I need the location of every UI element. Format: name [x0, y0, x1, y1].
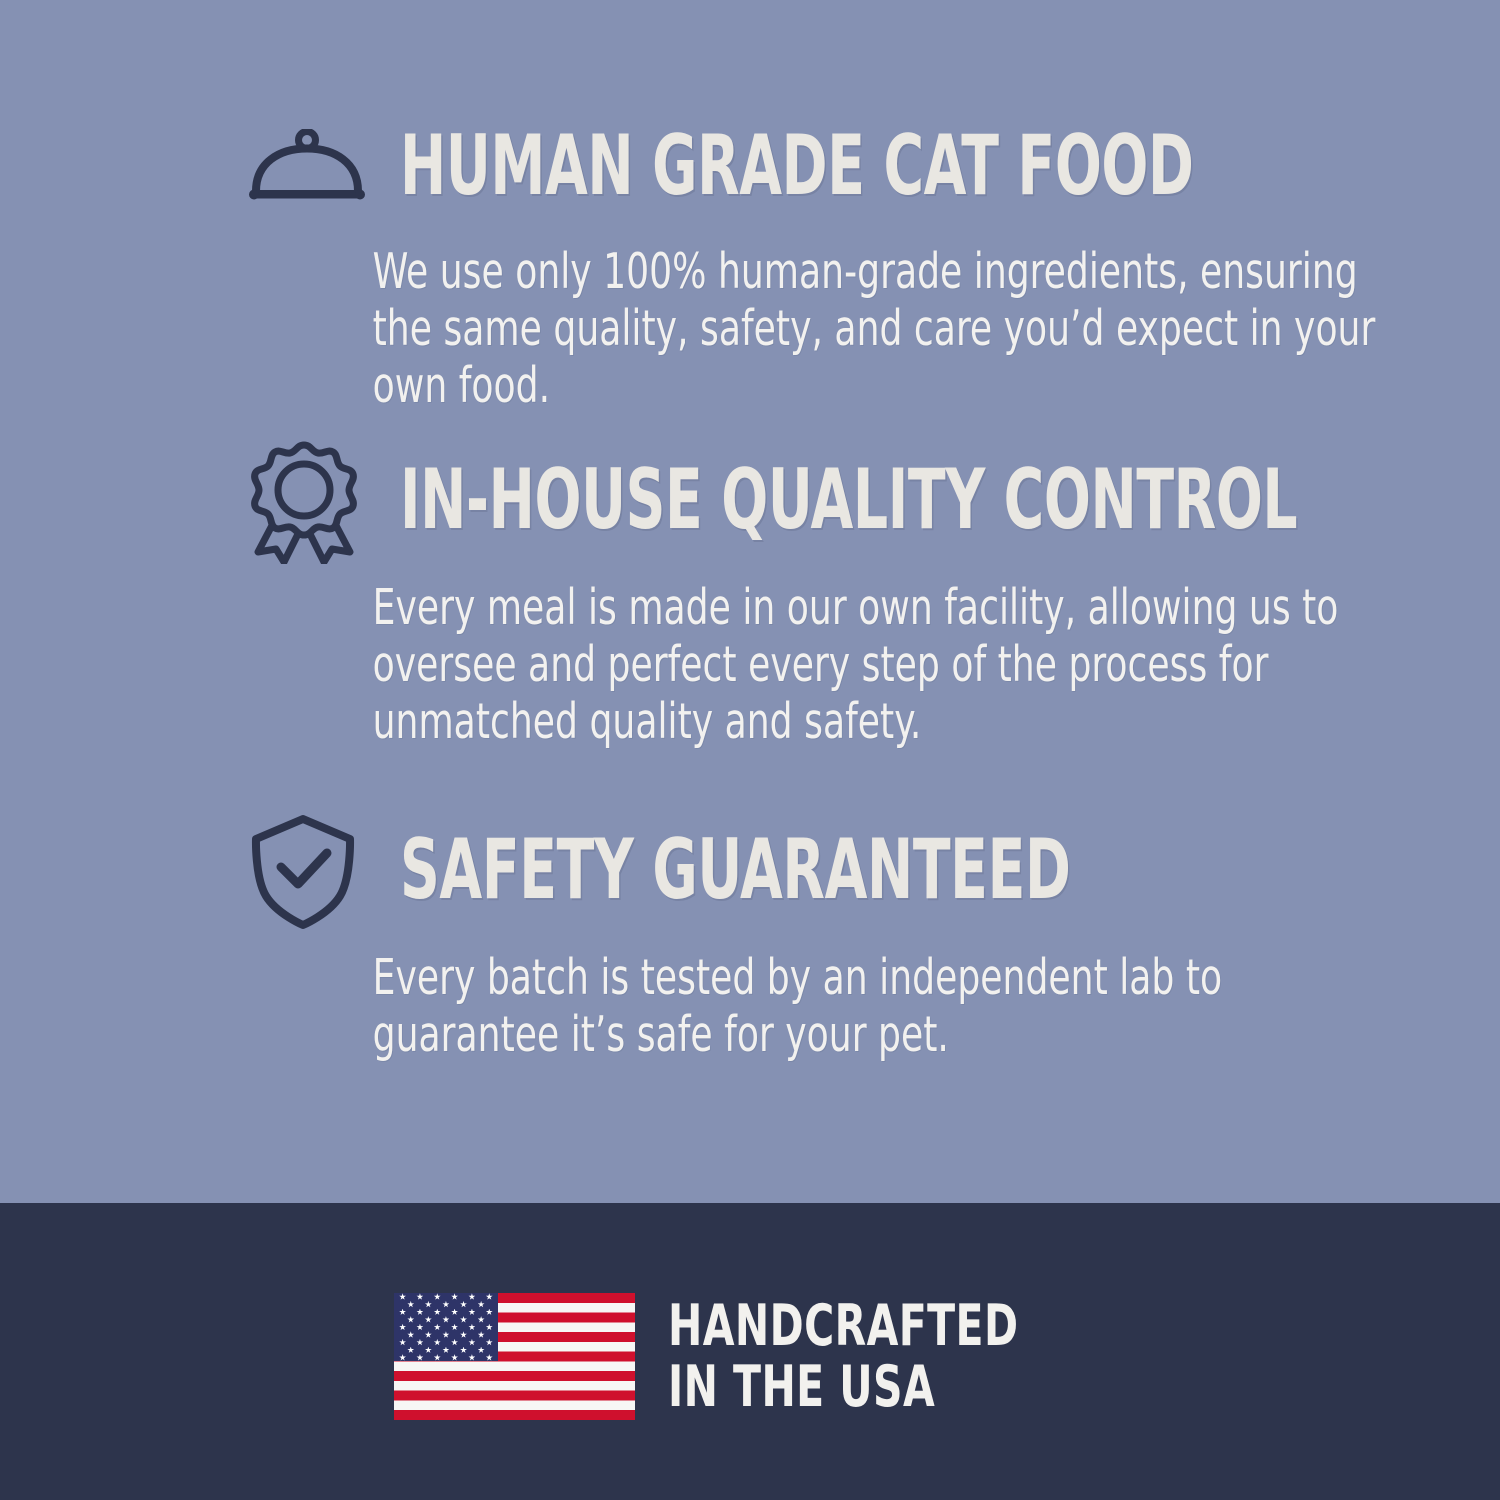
flag-star [478, 1331, 485, 1338]
flag-star [451, 1309, 458, 1316]
flag-star-row [394, 1324, 498, 1331]
banner-text: HANDCRAFTED IN THE USA [668, 1296, 1018, 1418]
flag-star [442, 1347, 449, 1354]
flag-star-row [394, 1316, 498, 1323]
flag-canton [394, 1293, 498, 1361]
feature-description: We use only 100% human-grade ingredients… [248, 243, 1389, 414]
feature-item-human-grade-cat-food: HUMAN GRADE CAT FOOD We use only 100% hu… [248, 118, 1258, 414]
flag-star [486, 1324, 493, 1331]
feature-title: SAFETY GUARANTEED [400, 822, 1070, 918]
flag-star [451, 1324, 458, 1331]
flag-star [478, 1347, 485, 1354]
flag-star [468, 1309, 475, 1316]
flag-star [468, 1293, 475, 1300]
flag-star [468, 1339, 475, 1346]
flag-star [399, 1354, 406, 1361]
cloche-icon [248, 118, 366, 218]
made-in-usa-banner: HANDCRAFTED IN THE USA [0, 1203, 1500, 1500]
flag-star [425, 1316, 432, 1323]
flag-star [460, 1347, 467, 1354]
flag-star [460, 1316, 467, 1323]
usa-flag-icon [394, 1293, 635, 1420]
flag-star-row [394, 1309, 498, 1316]
flag-star [486, 1293, 493, 1300]
flag-star-row [394, 1339, 498, 1346]
flag-star [460, 1301, 467, 1308]
flag-star [416, 1309, 423, 1316]
flag-star [434, 1293, 441, 1300]
flag-star [486, 1309, 493, 1316]
flag-star [416, 1293, 423, 1300]
flag-star [460, 1331, 467, 1338]
flag-star [416, 1354, 423, 1361]
feature-description: Every meal is made in our own facility, … [248, 579, 1389, 750]
flag-star [425, 1347, 432, 1354]
flag-star [407, 1331, 414, 1338]
flag-star [416, 1324, 423, 1331]
feature-list: HUMAN GRADE CAT FOOD We use only 100% hu… [0, 0, 1500, 1203]
banner-line-1: HANDCRAFTED [668, 1296, 1018, 1357]
infographic-panel: HUMAN GRADE CAT FOOD We use only 100% hu… [0, 0, 1500, 1500]
flag-star [468, 1354, 475, 1361]
flag-star [416, 1339, 423, 1346]
flag-star [425, 1331, 432, 1338]
flag-star [399, 1339, 406, 1346]
flag-star [478, 1316, 485, 1323]
feature-header: SAFETY GUARANTEED [248, 822, 1258, 922]
flag-star-row [394, 1301, 498, 1308]
flag-star [407, 1316, 414, 1323]
flag-star [399, 1309, 406, 1316]
flag-star-row [394, 1354, 498, 1361]
flag-star [407, 1347, 414, 1354]
flag-star [451, 1354, 458, 1361]
feature-header: HUMAN GRADE CAT FOOD [248, 118, 1258, 218]
feature-header: IN-HOUSE QUALITY CONTROL [248, 452, 1258, 552]
flag-star [442, 1316, 449, 1323]
flag-star [451, 1293, 458, 1300]
flag-star-row [394, 1293, 498, 1300]
banner-line-2: IN THE USA [668, 1357, 1018, 1418]
award-ribbon-icon [248, 452, 366, 552]
flag-star [486, 1354, 493, 1361]
flag-star-row [394, 1331, 498, 1338]
feature-item-safety-guaranteed: SAFETY GUARANTEED Every batch is tested … [248, 822, 1258, 1063]
feature-description: Every batch is tested by an independent … [248, 949, 1389, 1063]
flag-star [451, 1339, 458, 1346]
flag-star [399, 1324, 406, 1331]
flag-star [442, 1301, 449, 1308]
feature-item-in-house-quality-control: IN-HOUSE QUALITY CONTROL Every meal is m… [248, 452, 1258, 750]
flag-star [434, 1339, 441, 1346]
flag-star [399, 1293, 406, 1300]
feature-title: HUMAN GRADE CAT FOOD [400, 118, 1194, 214]
shield-check-icon [248, 822, 366, 922]
flag-star [407, 1301, 414, 1308]
feature-title: IN-HOUSE QUALITY CONTROL [400, 452, 1297, 548]
flag-star [425, 1301, 432, 1308]
banner-content: HANDCRAFTED IN THE USA [394, 1293, 1106, 1420]
flag-star [434, 1354, 441, 1361]
flag-star [434, 1324, 441, 1331]
flag-star [442, 1331, 449, 1338]
flag-star [478, 1301, 485, 1308]
flag-star [434, 1309, 441, 1316]
flag-star-row [394, 1347, 498, 1354]
flag-star [486, 1339, 493, 1346]
flag-star [468, 1324, 475, 1331]
